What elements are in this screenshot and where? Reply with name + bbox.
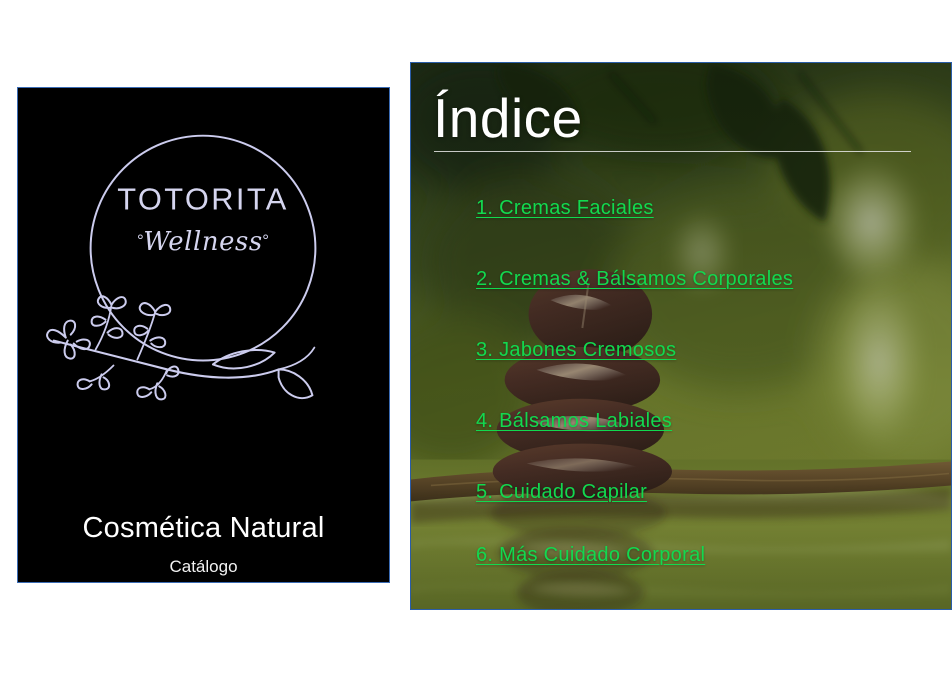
index-link-cremas-faciales[interactable]: 1. Cremas Faciales: [476, 197, 654, 220]
brand-logo: TOTORITA ° ° Wellness: [18, 98, 389, 428]
index-link-balsamos-labiales[interactable]: 4. Bálsamos Labiales: [476, 410, 672, 433]
list-item: 6. Más Cuidado Corporal: [476, 544, 946, 567]
list-item: 5. Cuidado Capilar: [476, 481, 946, 504]
index-link-cuidado-capilar[interactable]: 5. Cuidado Capilar: [476, 481, 647, 504]
index-link-jabones-cremosos[interactable]: 3. Jabones Cremosos: [476, 339, 676, 362]
index-slide-panel: Índice 1. Cremas Faciales 2. Cremas & Bá…: [410, 62, 952, 610]
list-item: 4. Bálsamos Labiales: [476, 410, 946, 433]
brand-name: TOTORITA: [117, 181, 289, 216]
brand-logo-graphic: TOTORITA ° ° Wellness: [18, 98, 389, 428]
logo-ornament-right-icon: °: [262, 231, 269, 250]
list-spacer: [476, 567, 946, 610]
cover-text-block: Cosmética Natural Catálogo Noviembre 202…: [18, 513, 389, 583]
list-spacer: [476, 433, 946, 481]
list-item: 1. Cremas Faciales: [476, 197, 946, 220]
cover-tagline: Cosmética Natural: [18, 513, 389, 545]
list-item: 3. Jabones Cremosos: [476, 339, 946, 362]
list-spacer: [476, 220, 946, 268]
list-spacer: [476, 291, 946, 339]
index-link-cremas-balsamos-corporales[interactable]: 2. Cremas & Bálsamos Corporales: [476, 268, 793, 291]
list-item: 2. Cremas & Bálsamos Corporales: [476, 268, 946, 291]
title-underline-rule: [434, 151, 911, 152]
page-title: Índice: [433, 91, 583, 146]
table-of-contents-list: 1. Cremas Faciales 2. Cremas & Bálsamos …: [476, 197, 946, 610]
index-link-mas-cuidado-corporal[interactable]: 6. Más Cuidado Corporal: [476, 544, 705, 567]
list-spacer: [476, 504, 946, 544]
brand-script-name: Wellness: [143, 227, 263, 257]
cover-subtitle-date: Noviembre 2025: [18, 580, 389, 583]
cover-subtitle-type: Catálogo: [18, 555, 389, 580]
list-spacer: [476, 362, 946, 410]
catalog-cover-card: TOTORITA ° ° Wellness Cosmética Natural …: [17, 87, 390, 583]
